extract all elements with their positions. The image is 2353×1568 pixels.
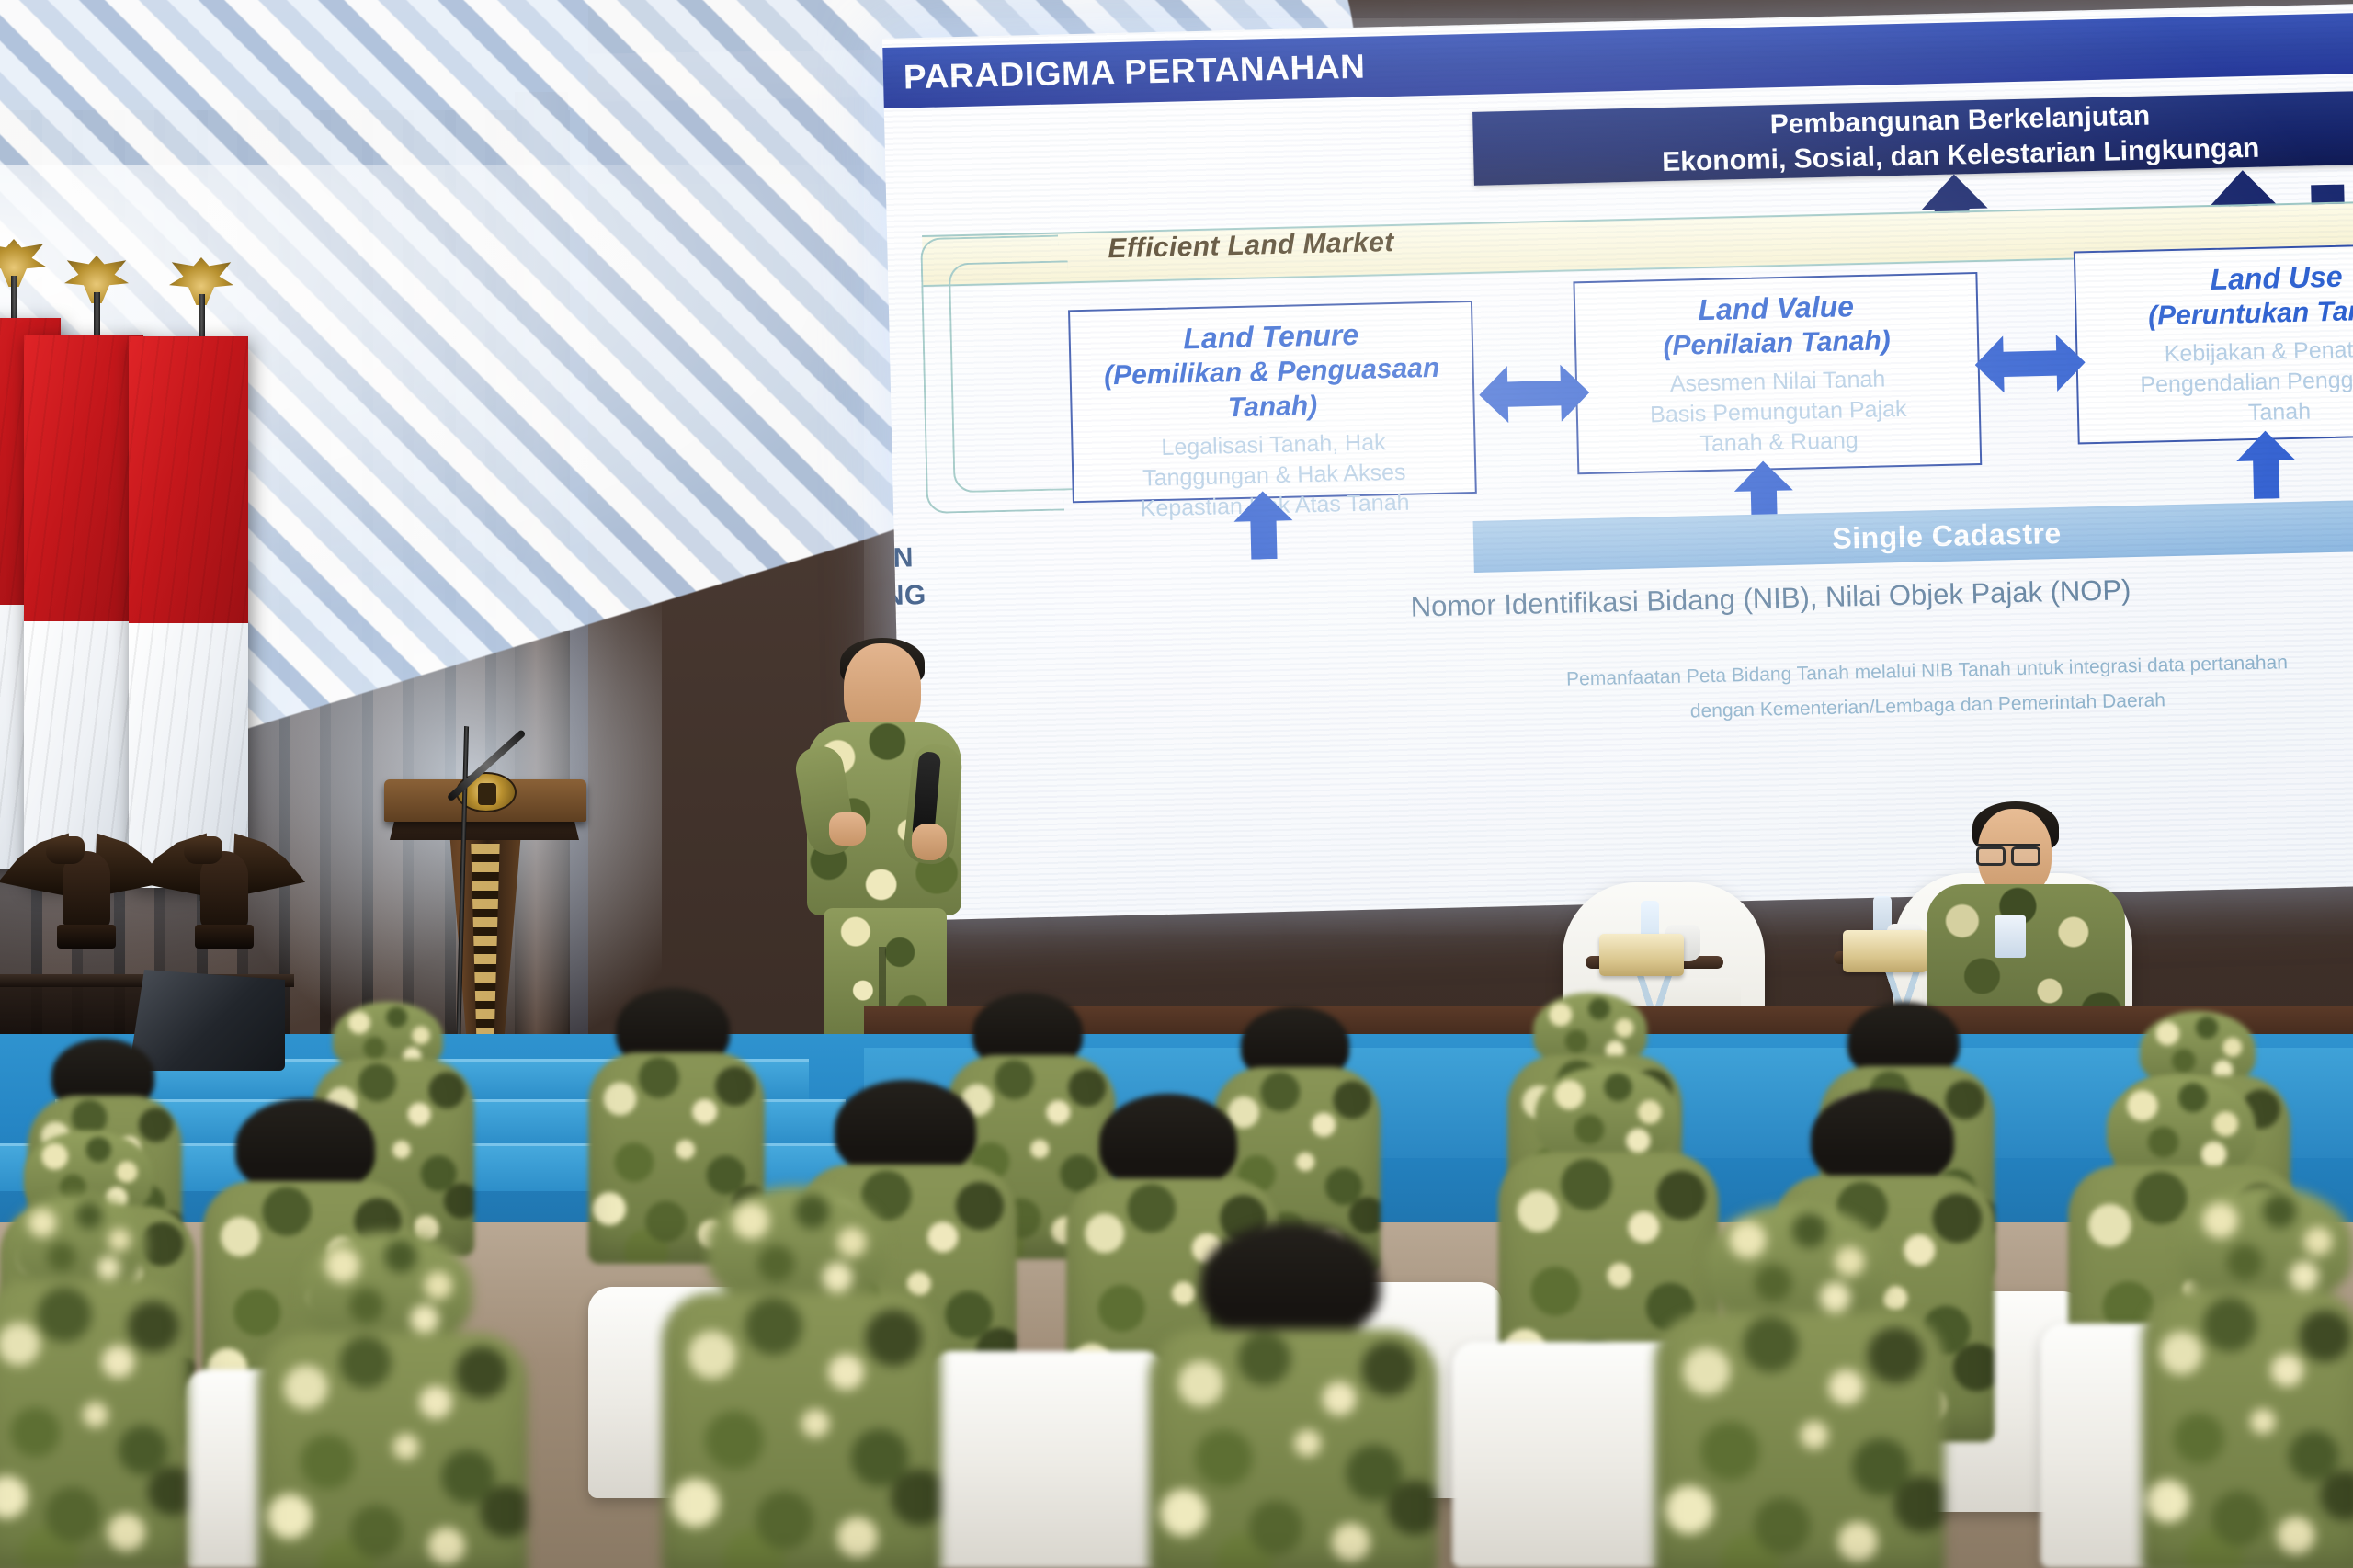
flag-red-band [24, 335, 143, 621]
feedback-loop-inner [949, 260, 1074, 493]
flag-red-band [129, 336, 248, 623]
up-arrow-icon [2235, 430, 2296, 499]
camouflage-cap [2178, 1186, 2353, 1301]
land-use-title-en: Land Use [2075, 255, 2353, 301]
audience-member-foreground [1654, 1204, 1939, 1568]
audience-hair [1099, 1094, 1237, 1189]
camouflage-cap [708, 1186, 888, 1303]
presenter-left-hand [829, 812, 866, 846]
camouflage-cap [1535, 1066, 1678, 1162]
audience-member-foreground [662, 1186, 938, 1568]
audience-hair [835, 1080, 976, 1177]
audience-member-foreground [1149, 1222, 1434, 1568]
projection-screen: PARADIGMA PERTANAHAN Pembangunan Berkela… [882, 3, 2353, 920]
single-cadastre-main-text: Nomor Identifikasi Bidang (NIB), Nilai O… [1410, 564, 2353, 625]
audience-uniform [0, 1279, 188, 1568]
slide-title-text: PARADIGMA PERTANAHAN [904, 48, 1366, 97]
audience-chair [928, 1351, 1167, 1568]
land-use-box: Land Use (Peruntukan Tanah) Kebijakan & … [2074, 242, 2353, 444]
land-tenure-title-id: (Pemilikan & Penguasaan Tanah) [1071, 350, 1473, 429]
bidirectional-arrow-icon [1974, 334, 2086, 393]
bidirectional-arrow-icon [1479, 364, 1590, 424]
camouflage-cap [2107, 1075, 2256, 1176]
land-value-box: Land Value (Penilaian Tanah) Asesmen Nil… [1573, 272, 1982, 474]
camouflage-cap [301, 1232, 472, 1344]
camouflage-cap [1704, 1204, 1886, 1324]
garuda-statue [147, 827, 303, 947]
snack-box [1843, 930, 1927, 972]
flag-cloth [129, 336, 248, 888]
land-tenure-box: Land Tenure (Pemilikan & Penguasaan Tana… [1068, 301, 1477, 503]
garuda-statue [9, 827, 165, 947]
audience-uniform [1654, 1312, 1945, 1568]
flag-cloth [24, 335, 143, 886]
audience-hair [235, 1098, 375, 1194]
garuda-head [46, 836, 85, 864]
audience-uniform [257, 1333, 528, 1568]
garuda-base [57, 925, 116, 949]
audience-uniform [2142, 1290, 2353, 1568]
camouflage-cap [9, 1195, 147, 1289]
audience-member-foreground [2142, 1186, 2353, 1568]
audience-uniform [1149, 1329, 1438, 1568]
photo-scene: PARADIGMA PERTANAHAN Pembangunan Berkela… [0, 0, 2353, 1568]
audience-uniform [662, 1292, 941, 1568]
id-badge [1995, 915, 2026, 958]
eyeglasses-icon [1976, 844, 2040, 857]
presenter-right-hand [912, 824, 947, 860]
garuda-head [184, 836, 222, 864]
audience-member-foreground [0, 1195, 184, 1568]
sustainable-development-banner: Pembangunan Berkelanjutan Ekonomi, Sosia… [1472, 89, 2353, 186]
garuda-base [195, 925, 254, 949]
audience-member-foreground [257, 1232, 524, 1568]
audience-hair [1200, 1222, 1381, 1340]
audience-hair [1811, 1089, 1954, 1187]
single-cadastre-heading: Single Cadastre [1473, 499, 2353, 573]
snack-box [1599, 934, 1684, 976]
